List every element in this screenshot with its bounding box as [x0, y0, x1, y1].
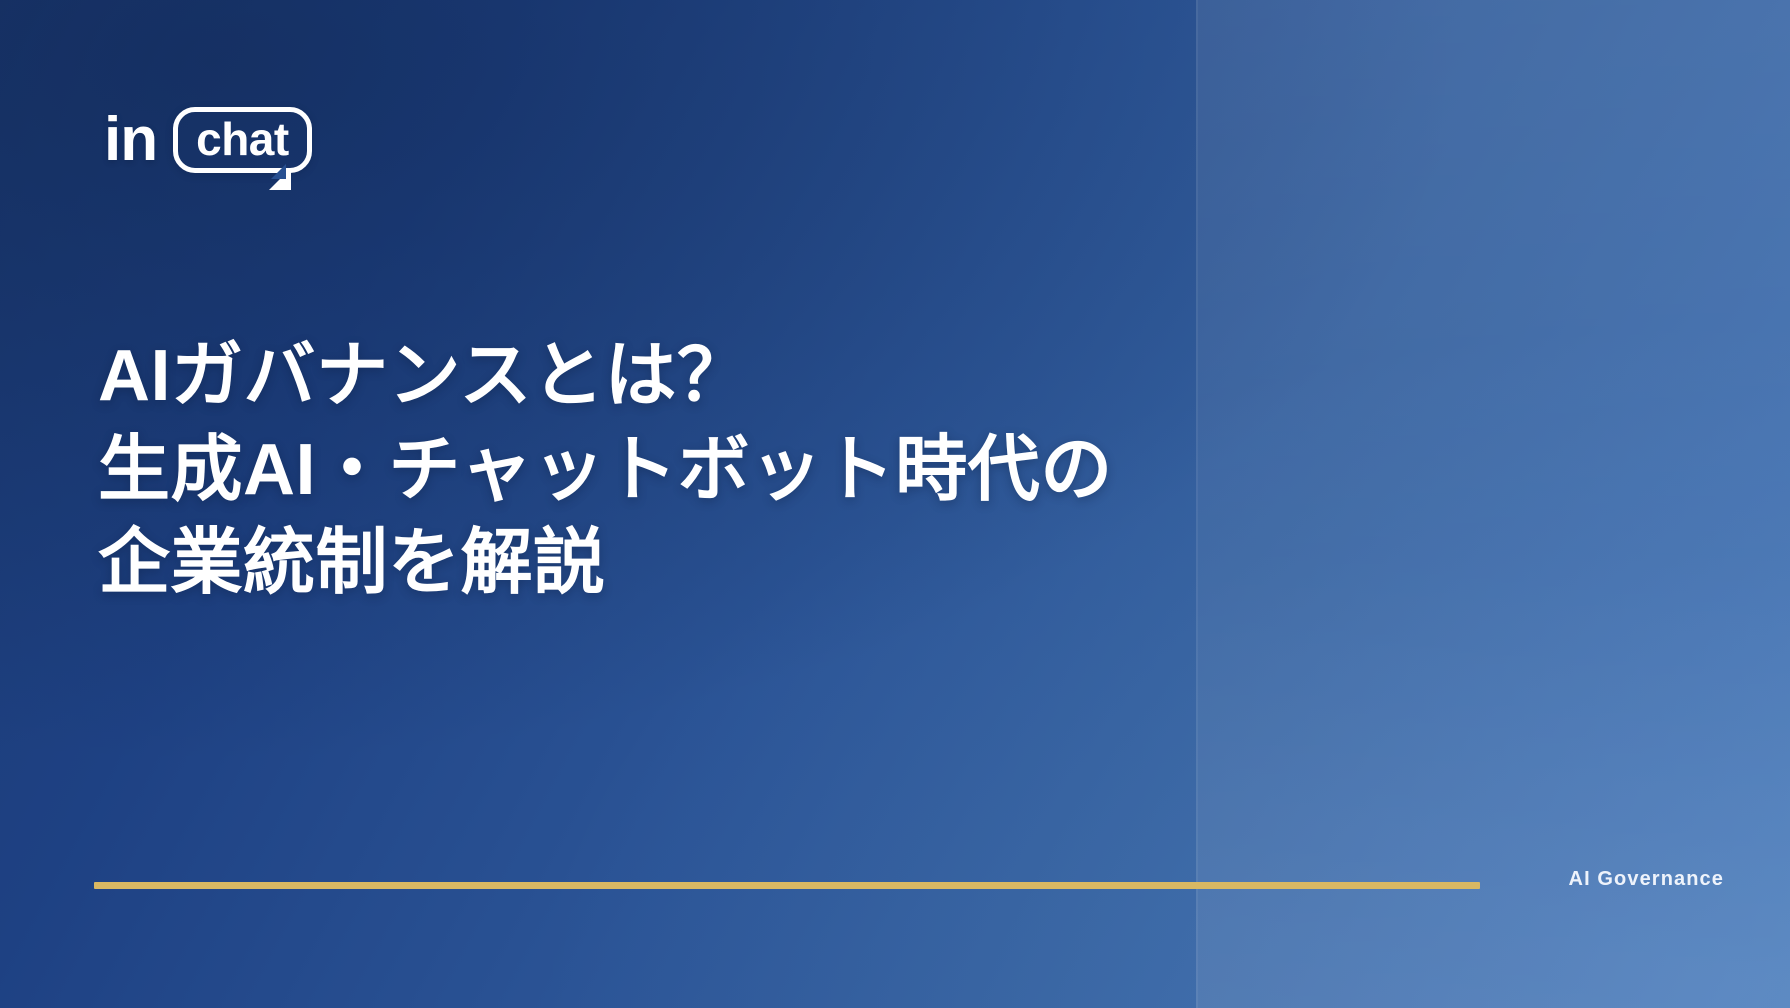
page-title: AIガバナンスとは？ 生成AI・チャットボット時代の 企業統制を解説 [98, 330, 1558, 611]
page-title-line-2: 生成AI・チャットボット時代の [98, 424, 1558, 518]
speech-bubble-outline-icon: chat [173, 107, 312, 173]
brand-logo-word-in: in [104, 109, 157, 171]
page-title-line-1: AIガバナンスとは？ [98, 330, 1558, 424]
title-card-canvas: in chat AIガバナンスとは？ 生成AI・チャットボット時代の 企業統制を… [0, 0, 1790, 1008]
page-title-line-3: 企業統制を解説 [98, 517, 1558, 611]
footer-divider [94, 882, 1480, 889]
brand-logo[interactable]: in chat [104, 104, 312, 176]
brand-logo-word-chat: chat [196, 115, 289, 163]
category-label: AI Governance [1569, 868, 1724, 891]
